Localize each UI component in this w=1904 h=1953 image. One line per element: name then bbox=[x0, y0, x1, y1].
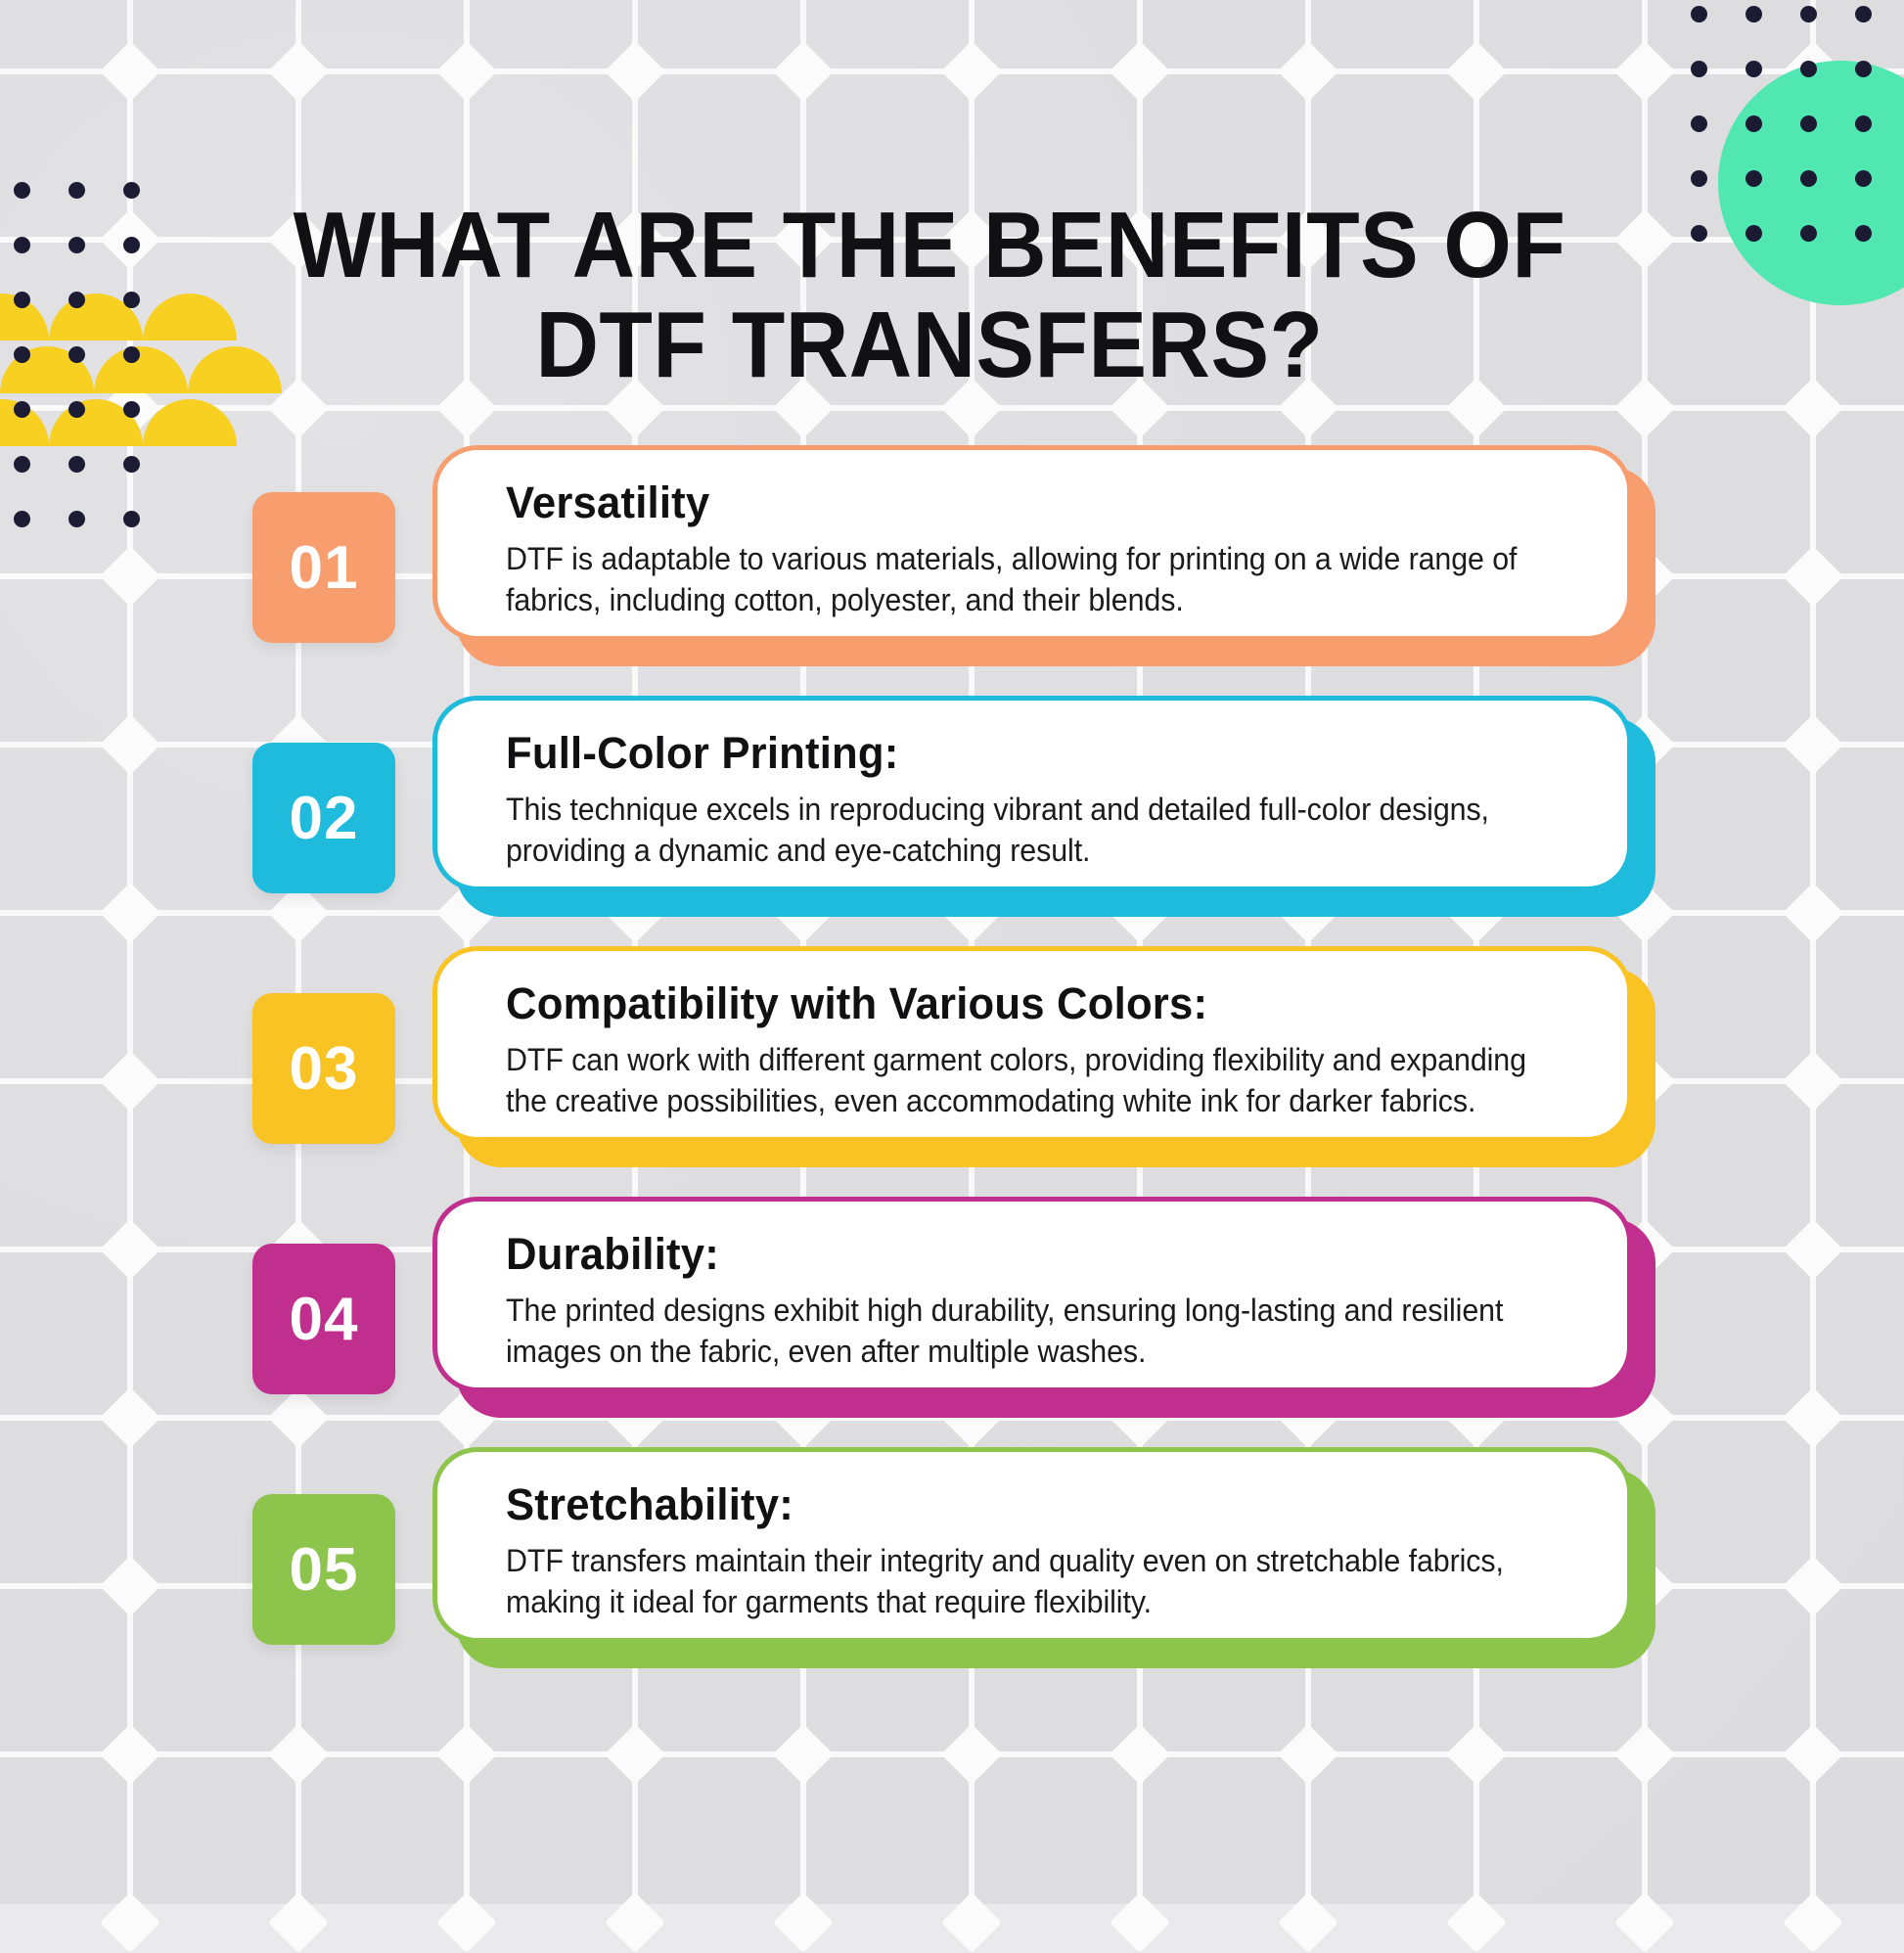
card-container: Durability: The printed designs exhibit … bbox=[432, 1197, 1655, 1418]
number-badge-label: 01 bbox=[290, 533, 359, 603]
list-item[interactable]: 03 Compatibility with Various Colors: DT… bbox=[0, 946, 1904, 1203]
list-item[interactable]: 05 Stretchability: DTF transfers maintai… bbox=[0, 1447, 1904, 1703]
card-body: DTF transfers maintain their integrity a… bbox=[506, 1541, 1528, 1622]
card-title: Versatility bbox=[506, 479, 1550, 525]
number-badge-label: 04 bbox=[290, 1285, 359, 1354]
card-body: The printed designs exhibit high durabil… bbox=[506, 1291, 1528, 1372]
number-badge: 05 bbox=[252, 1494, 395, 1645]
card: Compatibility with Various Colors: DTF c… bbox=[432, 946, 1632, 1142]
number-badge: 04 bbox=[252, 1244, 395, 1394]
list-item[interactable]: 01 Versatility DTF is adaptable to vario… bbox=[0, 445, 1904, 702]
card-body: DTF is adaptable to various materials, a… bbox=[506, 539, 1528, 620]
card-title: Full-Color Printing: bbox=[506, 730, 1550, 776]
card-body: DTF can work with different garment colo… bbox=[506, 1040, 1528, 1121]
card-title: Stretchability: bbox=[506, 1481, 1550, 1527]
page-title: WHAT ARE THE BENEFITS OF DTF TRANSFERS? bbox=[284, 196, 1576, 395]
number-badge-label: 02 bbox=[290, 784, 359, 853]
card-container: Stretchability: DTF transfers maintain t… bbox=[432, 1447, 1655, 1668]
benefits-list: 01 Versatility DTF is adaptable to vario… bbox=[0, 445, 1904, 1698]
card-body: This technique excels in reproducing vib… bbox=[506, 790, 1528, 871]
card-title: Compatibility with Various Colors: bbox=[506, 980, 1550, 1026]
list-item[interactable]: 02 Full-Color Printing: This technique e… bbox=[0, 696, 1904, 952]
infographic-page: WHAT ARE THE BENEFITS OF DTF TRANSFERS? … bbox=[0, 0, 1904, 1904]
number-badge-label: 03 bbox=[290, 1034, 359, 1104]
card-container: Full-Color Printing: This technique exce… bbox=[432, 696, 1655, 917]
card: Versatility DTF is adaptable to various … bbox=[432, 445, 1632, 641]
card-title: Durability: bbox=[506, 1231, 1550, 1277]
number-badge: 01 bbox=[252, 492, 395, 643]
card: Full-Color Printing: This technique exce… bbox=[432, 696, 1632, 891]
number-badge-label: 05 bbox=[290, 1535, 359, 1605]
number-badge: 02 bbox=[252, 743, 395, 893]
card: Durability: The printed designs exhibit … bbox=[432, 1197, 1632, 1392]
card-container: Compatibility with Various Colors: DTF c… bbox=[432, 946, 1655, 1167]
card: Stretchability: DTF transfers maintain t… bbox=[432, 1447, 1632, 1643]
number-badge: 03 bbox=[252, 993, 395, 1144]
card-container: Versatility DTF is adaptable to various … bbox=[432, 445, 1655, 666]
list-item[interactable]: 04 Durability: The printed designs exhib… bbox=[0, 1197, 1904, 1453]
